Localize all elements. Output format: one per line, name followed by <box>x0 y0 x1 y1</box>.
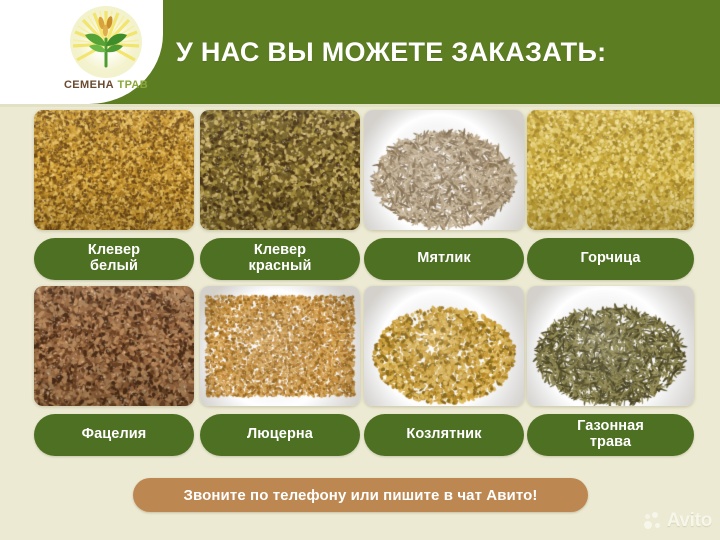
logo-wordmark: СЕМЕНА ТРАВ <box>64 80 148 91</box>
product-label-line1: Люцерна <box>247 427 313 443</box>
product-card-2[interactable]: Мятлик <box>364 110 524 286</box>
product-card-4[interactable]: Фацелия <box>34 286 194 462</box>
product-label-line2: белый <box>90 258 138 274</box>
product-card-0[interactable]: Клевербелый <box>34 110 194 286</box>
product-image-alfalfa <box>200 286 360 406</box>
page-title: У НАС ВЫ МОЖЕТЕ ЗАКАЗАТЬ: <box>176 0 606 104</box>
logo-word-trav: ТРАВ <box>117 79 148 91</box>
logo-word-semena: СЕМЕНА <box>64 79 114 91</box>
product-label-line1: Фацелия <box>82 427 147 443</box>
header-divider <box>0 104 720 107</box>
product-label-line1: Козлятник <box>406 427 481 443</box>
avito-wordmark: Avito <box>667 510 712 532</box>
product-label-line2: красный <box>249 258 312 274</box>
product-label-0[interactable]: Клевербелый <box>34 238 194 280</box>
avito-dots-icon <box>644 512 663 531</box>
product-image-phacelia <box>34 286 194 406</box>
product-card-1[interactable]: Клеверкрасный <box>200 110 360 286</box>
product-label-line1: Мятлик <box>417 251 470 267</box>
seed-shop-banner: У НАС ВЫ МОЖЕТЕ ЗАКАЗАТЬ: <box>0 0 720 540</box>
product-card-6[interactable]: Козлятник <box>364 286 524 462</box>
product-label-line1: Клевер <box>88 242 140 258</box>
cta-label: Звоните по телефону или пишите в чат Ави… <box>184 487 538 504</box>
product-label-6[interactable]: Козлятник <box>364 414 524 456</box>
product-label-line1: Газонная <box>577 418 644 434</box>
product-label-1[interactable]: Клеверкрасный <box>200 238 360 280</box>
product-label-7[interactable]: Газоннаятрава <box>527 414 694 456</box>
brand-logo: СЕМЕНА ТРАВ <box>52 6 160 100</box>
product-label-3[interactable]: Горчица <box>527 238 694 280</box>
product-card-7[interactable]: Газоннаятрава <box>527 286 694 462</box>
product-label-2[interactable]: Мятлик <box>364 238 524 280</box>
product-row-1: Клевербелый Клеверкрасный Мятлик Горчица <box>0 110 720 286</box>
product-image-white-clover <box>34 110 194 230</box>
product-image-lawn-grass <box>527 286 694 406</box>
product-image-goats-rue <box>364 286 524 406</box>
product-label-line1: Клевер <box>254 242 306 258</box>
product-image-red-clover <box>200 110 360 230</box>
banner-header: У НАС ВЫ МОЖЕТЕ ЗАКАЗАТЬ: <box>0 0 720 104</box>
product-label-5[interactable]: Люцерна <box>200 414 360 456</box>
product-label-4[interactable]: Фацелия <box>34 414 194 456</box>
cta-button[interactable]: Звоните по телефону или пишите в чат Ави… <box>133 478 588 512</box>
avito-watermark: Avito <box>644 510 712 532</box>
product-label-line1: Горчица <box>580 251 640 267</box>
product-grid: Клевербелый Клеверкрасный Мятлик Горчица <box>0 110 720 482</box>
product-image-bluegrass <box>364 110 524 230</box>
product-label-line2: трава <box>590 434 631 450</box>
product-row-2: Фацелия Люцерна Козлятник Газоннаятрава <box>0 286 720 462</box>
sprout-sunburst-icon <box>70 6 142 78</box>
product-card-3[interactable]: Горчица <box>527 110 694 286</box>
product-card-5[interactable]: Люцерна <box>200 286 360 462</box>
product-image-mustard <box>527 110 694 230</box>
